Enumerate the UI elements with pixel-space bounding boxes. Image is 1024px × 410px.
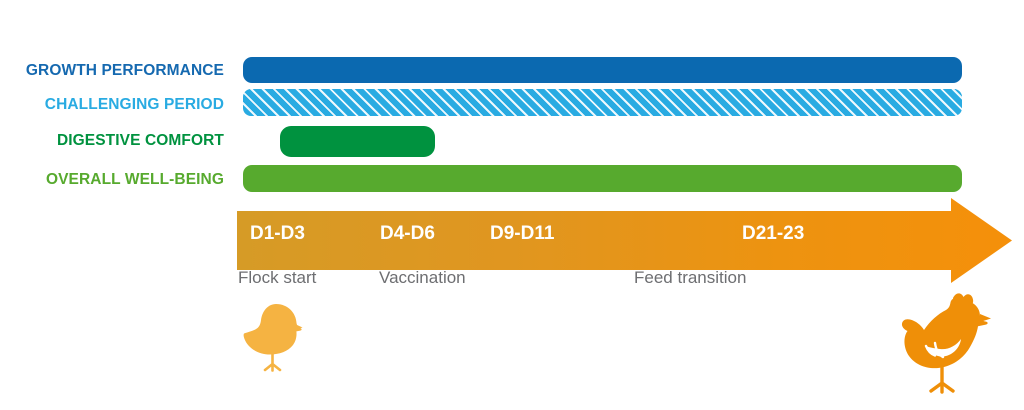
row-label-challenging-period: CHALLENGING PERIOD [0,97,224,113]
hen-icon [890,290,1010,402]
stage-date-d9-d11: D9-D11 [490,224,554,243]
stage-label-vaccination: Vaccination [379,269,466,286]
bar-overall-well-being [243,165,962,192]
stage-label-feed-transition: Feed transition [634,269,746,286]
row-label-overall-well-being: OVERALL WELL-BEING [0,172,224,188]
stage-date-d1-d3: D1-D3 [250,224,305,243]
stage-date-d21-23: D21-23 [742,224,804,243]
row-label-digestive-comfort: DIGESTIVE COMFORT [0,133,224,149]
bar-growth-performance [243,57,962,83]
bar-challenging-period [243,89,962,116]
chick-icon [236,300,316,372]
timeline-arrow [237,198,1024,283]
poultry-timeline-infographic: GROWTH PERFORMANCE CHALLENGING PERIOD DI… [0,0,1024,410]
bar-digestive-comfort [280,126,435,157]
stage-date-d4-d6: D4-D6 [380,224,435,243]
row-label-growth-performance: GROWTH PERFORMANCE [0,63,224,79]
stage-label-flock-start: Flock start [238,269,316,286]
